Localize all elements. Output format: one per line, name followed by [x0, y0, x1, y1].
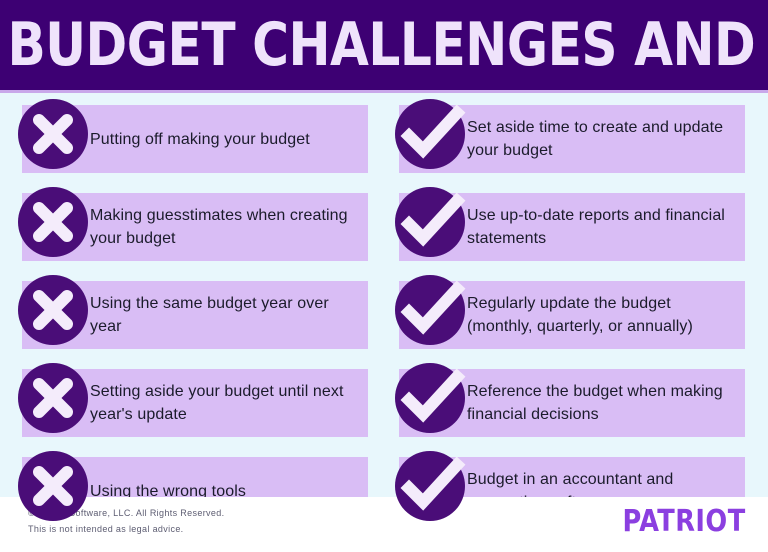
x-mark-icon [18, 275, 88, 345]
list-item: Reference the budget when making financi… [395, 357, 745, 425]
check-mark-icon [395, 451, 465, 521]
list-item: Making guesstimates when creating your b… [18, 181, 368, 249]
check-mark-icon [395, 363, 465, 433]
content-area: Putting off making your budget Making gu… [0, 93, 768, 497]
solutions-column: Set aside time to create and update your… [395, 93, 745, 533]
list-item: Set aside time to create and update your… [395, 93, 745, 161]
list-item: Use up-to-date reports and financial sta… [395, 181, 745, 249]
infographic-root: BUDGET CHALLENGES AND SOLUTIONS Putting … [0, 0, 768, 552]
x-mark-icon [18, 187, 88, 257]
check-mark-icon [395, 187, 465, 257]
x-mark-icon [18, 99, 88, 169]
list-item: Putting off making your budget [18, 93, 368, 161]
check-mark-icon [395, 99, 465, 169]
list-item: Using the same budget year over year [18, 269, 368, 337]
x-mark-icon [18, 363, 88, 433]
check-mark-icon [395, 275, 465, 345]
list-item: Setting aside your budget until next yea… [18, 357, 368, 425]
patriot-logo: PATRIOT [623, 505, 746, 539]
header-band: BUDGET CHALLENGES AND SOLUTIONS [0, 0, 768, 90]
x-mark-icon [18, 451, 88, 521]
disclaimer-text: This is not intended as legal advice. [28, 521, 224, 537]
page-title: BUDGET CHALLENGES AND SOLUTIONS [0, 14, 768, 76]
challenges-column: Putting off making your budget Making gu… [18, 93, 368, 533]
footer: © Patriot Software, LLC. All Rights Rese… [0, 497, 768, 552]
list-item: Regularly update the budget (monthly, qu… [395, 269, 745, 337]
